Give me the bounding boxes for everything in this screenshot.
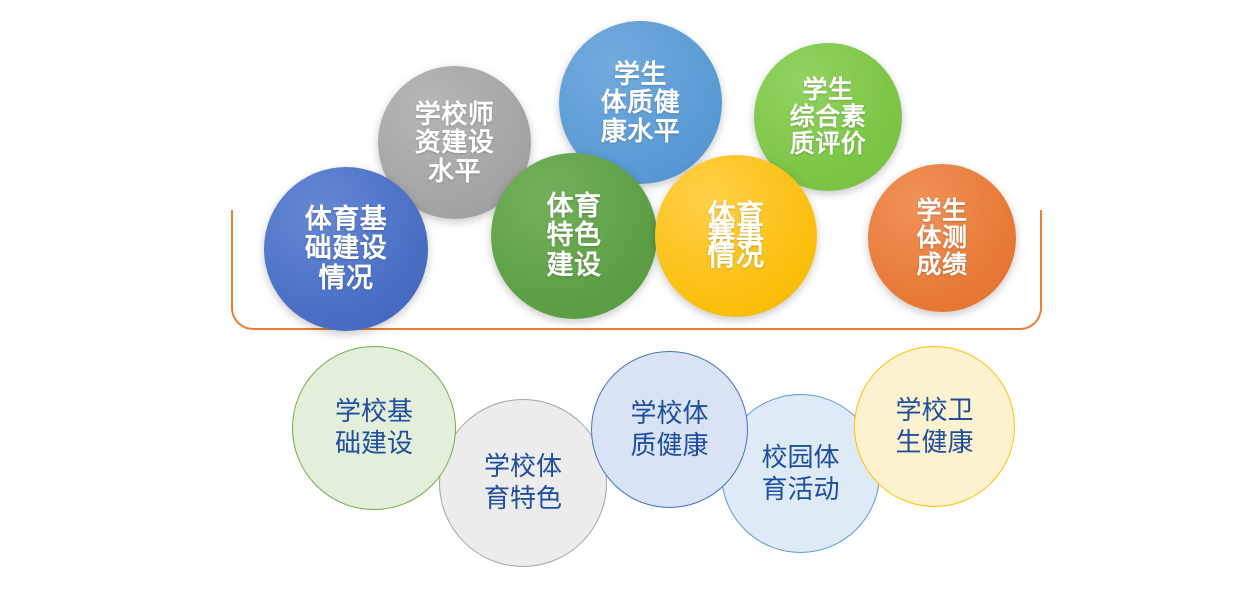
node-label-sports-infrastructure: 体育基 础建设 情况 (305, 205, 388, 292)
node-label-teacher-development: 学校师 资建设 水平 (415, 100, 495, 184)
node-label-sports-events: 体育 赛事 情况 (707, 205, 764, 267)
node-school-physical-health[interactable]: 学校体 质健康 (591, 351, 748, 508)
node-school-infrastructure[interactable]: 学校基 础建设 (292, 346, 456, 510)
node-sports-events[interactable]: 体育 赛事 情况 (655, 155, 817, 317)
node-label-school-infrastructure: 学校基 础建设 (335, 396, 413, 459)
node-school-sports-specialty[interactable]: 学校体 育特色 (439, 399, 607, 567)
node-label-sports-specialty: 体育 特色 建设 (547, 192, 602, 279)
node-label-school-hygiene-health: 学校卫 生健康 (895, 395, 973, 458)
node-label-student-test-scores: 学生 体测 成绩 (916, 198, 967, 279)
node-label-school-sports-specialty: 学校体 育特色 (484, 451, 562, 514)
node-student-test-scores[interactable]: 学生 体测 成绩 (868, 164, 1016, 312)
node-label-campus-sports-activity: 校园体 育活动 (761, 442, 839, 505)
node-label-student-fitness-level: 学生 体质健 康水平 (601, 60, 681, 144)
node-label-school-physical-health: 学校体 质健康 (630, 398, 708, 461)
node-sports-specialty[interactable]: 体育 特色 建设 (491, 153, 657, 319)
node-label-student-comprehensive-quality: 学生 综合素 质评价 (790, 77, 867, 158)
node-sports-infrastructure[interactable]: 体育基 础建设 情况 (264, 167, 428, 331)
node-school-hygiene-health[interactable]: 学校卫 生健康 (854, 346, 1015, 507)
diagram-canvas: 体育基 础建设 情况 学校师 资建设 水平 学生 体质健 康水平 体育 特色 建… (0, 0, 1259, 593)
